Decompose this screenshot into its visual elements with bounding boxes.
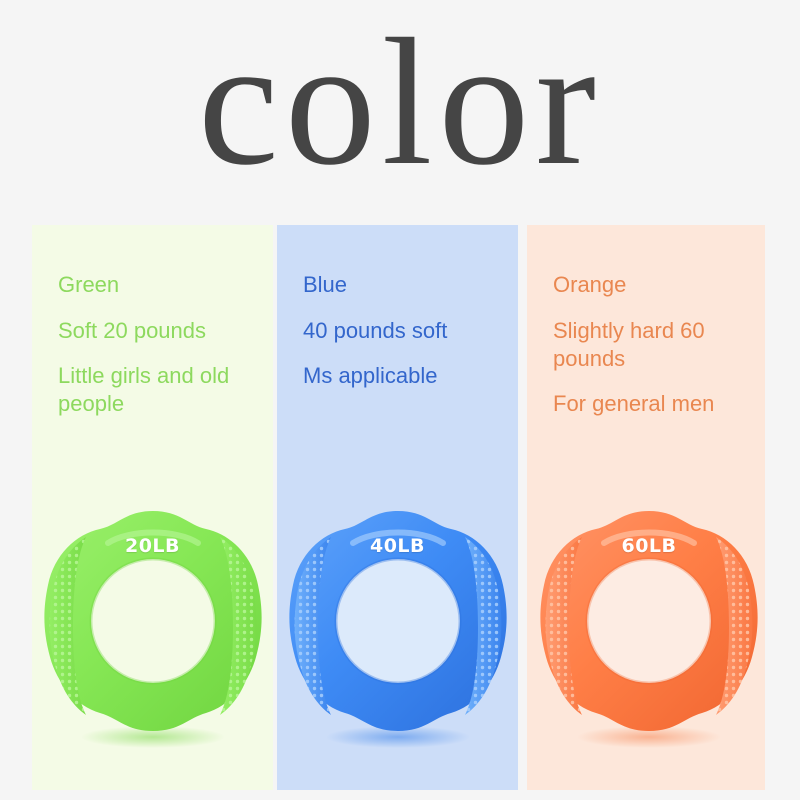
variant-text-orange: Orange Slightly hard 60 pounds For gener…	[553, 270, 748, 418]
variant-line-1-orange: Slightly hard 60 pounds	[553, 317, 748, 373]
variant-panel-green[interactable]: Green Soft 20 pounds Little girls and ol…	[32, 225, 273, 790]
variant-line-1-blue: 40 pounds soft	[303, 317, 503, 345]
variant-line-2-orange: For general men	[553, 390, 748, 418]
variant-heading-blue: Blue	[303, 270, 503, 300]
page-title: color	[0, 8, 800, 198]
weight-label-blue: 40LB	[283, 535, 513, 557]
weight-label-orange: 60LB	[534, 535, 764, 557]
variant-panel-blue[interactable]: Blue 40 pounds soft Ms applicable	[277, 225, 518, 790]
variant-text-blue: Blue 40 pounds soft Ms applicable	[303, 270, 503, 390]
weight-label-green: 20LB	[38, 535, 268, 557]
variant-line-2-green: Little girls and old people	[58, 362, 258, 418]
product-image-green[interactable]: 20LB	[38, 503, 268, 753]
product-image-orange[interactable]: 60LB	[534, 503, 764, 753]
variant-heading-orange: Orange	[553, 270, 748, 300]
product-image-blue[interactable]: 40LB	[283, 503, 513, 753]
variant-heading-green: Green	[58, 270, 258, 300]
infographic-page: color Green Soft 20 pounds Little girls …	[0, 0, 800, 800]
variant-panel-orange[interactable]: Orange Slightly hard 60 pounds For gener…	[527, 225, 765, 790]
variant-line-2-blue: Ms applicable	[303, 362, 503, 390]
variant-text-green: Green Soft 20 pounds Little girls and ol…	[58, 270, 258, 418]
variant-line-1-green: Soft 20 pounds	[58, 317, 258, 345]
color-variant-columns: Green Soft 20 pounds Little girls and ol…	[0, 225, 800, 790]
